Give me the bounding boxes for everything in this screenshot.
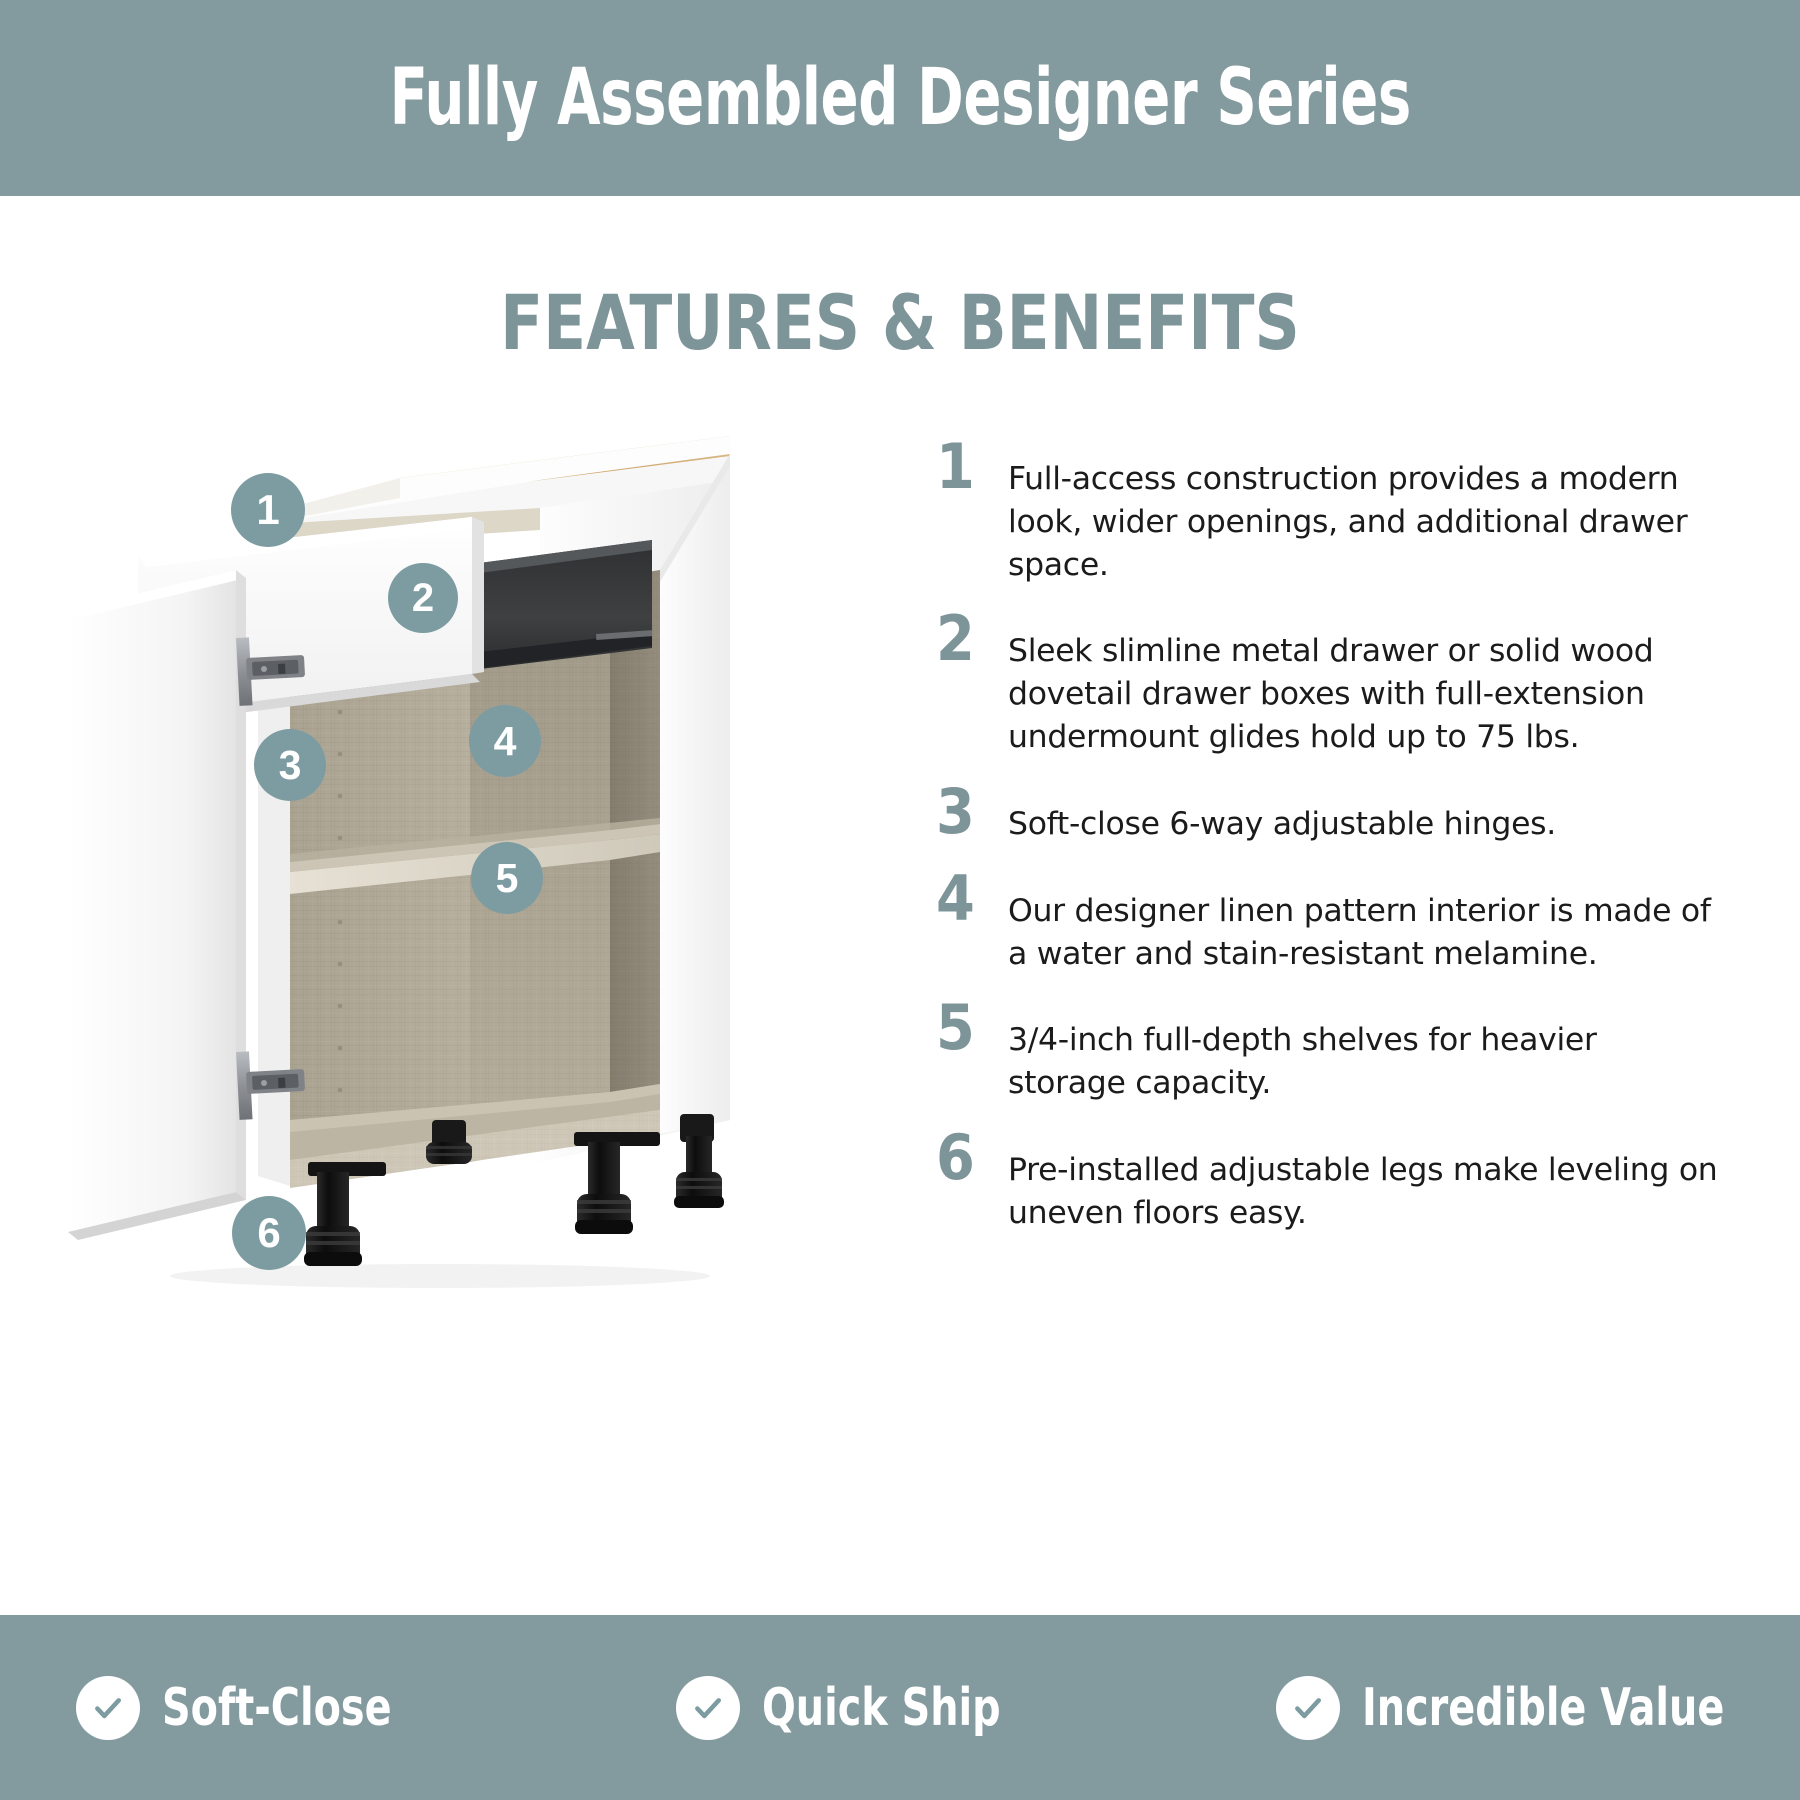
callout-bubble-3: 3 bbox=[254, 729, 326, 801]
bottom-banner: Soft-Close Quick Ship Incredible Value bbox=[0, 1615, 1800, 1800]
feature-number: 1 bbox=[930, 440, 1008, 495]
feature-number: 5 bbox=[930, 1001, 1008, 1056]
feature-description: Sleek slimline metal drawer or solid woo… bbox=[1008, 612, 1720, 758]
check-circle-icon bbox=[676, 1676, 740, 1740]
callout-number: 3 bbox=[279, 745, 302, 786]
section-heading: FEATURES & BENEFITS bbox=[72, 285, 1728, 361]
feature-number: 6 bbox=[930, 1131, 1008, 1186]
callout-number: 1 bbox=[256, 489, 279, 531]
badge-quick-ship: Quick Ship bbox=[676, 1676, 1043, 1740]
badge-label: Soft-Close bbox=[162, 1682, 392, 1734]
badge-label: Incredible Value bbox=[1362, 1682, 1724, 1734]
cabinet-door bbox=[68, 570, 236, 1232]
callout-bubble-4: 4 bbox=[469, 705, 541, 777]
feature-description: 3/4-inch full-depth shelves for heavier … bbox=[1008, 1001, 1720, 1105]
adjustable-leg-rear-right bbox=[674, 1114, 724, 1208]
product-illustration: 1 2 3 4 5 6 bbox=[40, 420, 800, 1320]
callout-bubble-5: 5 bbox=[471, 842, 543, 914]
callout-number: 2 bbox=[412, 578, 434, 618]
main-content: 1 2 3 4 5 6 1 Full-access construction p… bbox=[0, 400, 1800, 1600]
base-cabinet-drawing bbox=[40, 420, 800, 1320]
feature-item: 4 Our designer linen pattern interior is… bbox=[930, 872, 1720, 976]
page-title: Fully Assembled Designer Series bbox=[389, 59, 1410, 137]
top-banner: Fully Assembled Designer Series bbox=[0, 0, 1800, 196]
callout-bubble-1: 1 bbox=[231, 473, 305, 547]
check-circle-icon bbox=[1276, 1676, 1340, 1740]
feature-item: 3 Soft-close 6-way adjustable hinges. bbox=[930, 785, 1720, 846]
adjustable-leg-rear-left bbox=[426, 1120, 472, 1164]
feature-item: 5 3/4-inch full-depth shelves for heavie… bbox=[930, 1001, 1720, 1105]
feature-description: Our designer linen pattern interior is m… bbox=[1008, 872, 1720, 976]
callout-bubble-2: 2 bbox=[388, 563, 458, 633]
features-list: 1 Full-access construction provides a mo… bbox=[930, 440, 1720, 1261]
badge-label: Quick Ship bbox=[762, 1682, 1001, 1734]
callout-bubble-6: 6 bbox=[232, 1196, 306, 1270]
badge-incredible-value: Incredible Value bbox=[1276, 1676, 1788, 1740]
callout-number: 4 bbox=[494, 721, 517, 762]
callout-number: 5 bbox=[496, 858, 519, 899]
feature-item: 2 Sleek slimline metal drawer or solid w… bbox=[930, 612, 1720, 758]
feature-description: Full-access construction provides a mode… bbox=[1008, 440, 1720, 586]
feature-description: Pre-installed adjustable legs make level… bbox=[1008, 1131, 1720, 1235]
check-circle-icon bbox=[76, 1676, 140, 1740]
callout-number: 6 bbox=[257, 1212, 280, 1254]
feature-item: 1 Full-access construction provides a mo… bbox=[930, 440, 1720, 586]
feature-item: 6 Pre-installed adjustable legs make lev… bbox=[930, 1131, 1720, 1235]
feature-description: Soft-close 6-way adjustable hinges. bbox=[1008, 785, 1720, 846]
badge-soft-close: Soft-Close bbox=[76, 1676, 432, 1740]
feature-number: 4 bbox=[930, 872, 1008, 927]
feature-number: 3 bbox=[930, 785, 1008, 840]
feature-number: 2 bbox=[930, 612, 1008, 667]
